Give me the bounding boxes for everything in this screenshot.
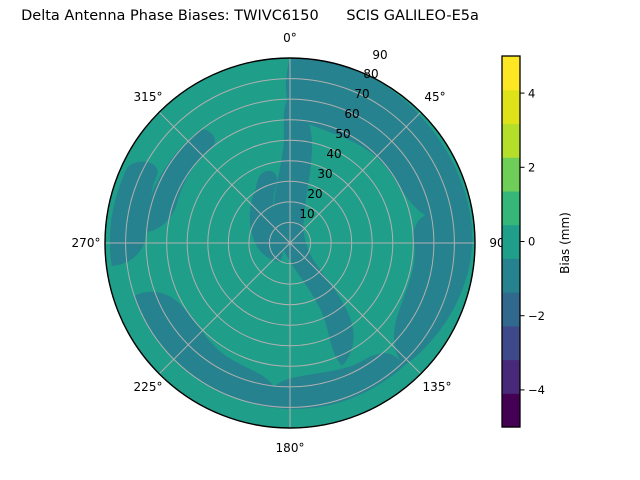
colorbar-band — [502, 90, 520, 124]
colorbar-tick-labels: −4−2024 — [528, 86, 545, 397]
colorbar-bands — [502, 56, 520, 428]
angular-tick-270: 270° — [72, 236, 101, 250]
radial-tick-60: 60 — [344, 107, 359, 121]
colorbar-band — [502, 225, 520, 259]
angular-tick-180: 180° — [276, 441, 305, 455]
colorbar-band — [502, 258, 520, 292]
angular-tick-135: 135° — [423, 380, 452, 394]
colorbar-tick-label: 2 — [528, 161, 535, 175]
angular-tick-0: 0° — [283, 31, 297, 45]
angular-tick-315: 315° — [134, 90, 163, 104]
radial-tick-20: 20 — [307, 187, 322, 201]
colorbar-band — [502, 292, 520, 326]
colorbar[interactable]: −4−2024 Bias (mm) — [502, 56, 572, 428]
angular-tick-45: 45° — [424, 90, 445, 104]
polar-spokes — [105, 58, 475, 428]
radial-tick-80: 80 — [363, 67, 378, 81]
radial-tick-40: 40 — [326, 147, 341, 161]
colorbar-band — [502, 157, 520, 191]
colorbar-tick-label: −2 — [528, 309, 545, 323]
colorbar-band — [502, 326, 520, 360]
matplotlib-figure: Delta Antenna Phase Biases: TWIVC6150 SC… — [0, 0, 640, 480]
radial-tick-50: 50 — [335, 127, 350, 141]
colorbar-band — [502, 393, 520, 427]
polar-contour-svg: 0° 45° 90 135° 180° 225° 270° 315° 10 20… — [0, 0, 640, 480]
radial-tick-90: 90 — [372, 48, 387, 62]
radial-tick-30: 30 — [317, 167, 332, 181]
colorbar-band — [502, 56, 520, 90]
colorbar-tick-label: 0 — [528, 235, 535, 249]
colorbar-band — [502, 191, 520, 225]
radial-tick-70: 70 — [354, 87, 369, 101]
colorbar-band — [502, 360, 520, 394]
colorbar-tick-label: −4 — [528, 383, 545, 397]
colorbar-tick-label: 4 — [528, 86, 535, 100]
radial-tick-10: 10 — [299, 207, 314, 221]
colorbar-axis-label: Bias (mm) — [558, 212, 572, 274]
angular-tick-225: 225° — [134, 380, 163, 394]
colorbar-band — [502, 123, 520, 157]
polar-axes-container: 0° 45° 90 135° 180° 225° 270° 315° 10 20… — [0, 0, 640, 480]
colorbar-ticks — [520, 93, 525, 390]
